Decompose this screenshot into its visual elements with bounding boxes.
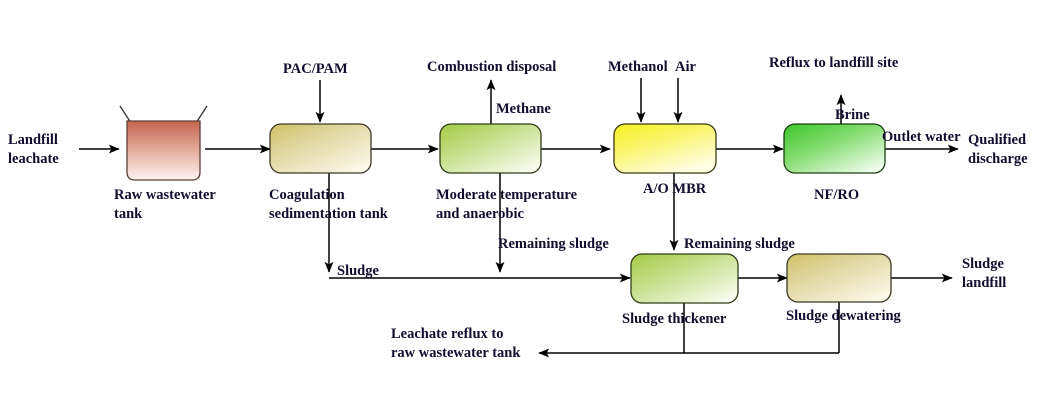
label-reflux-to-landfill-site: Reflux to landfill site	[769, 54, 898, 73]
label-combustion-disposal: Combustion disposal	[427, 58, 556, 77]
label-raw-wastewater-tank-line2: tank	[114, 205, 142, 224]
label-qualified-discharge-line1: Qualified	[968, 131, 1026, 150]
label-raw-wastewater-tank-line1: Raw wastewater	[114, 186, 216, 205]
vertical-stream-connectors	[320, 78, 841, 125]
label-leachate-reflux-line2: raw wastewater tank	[391, 344, 520, 363]
label-landfill-leachate-line1: Landfill	[8, 131, 58, 150]
label-sludge: Sludge	[337, 262, 379, 281]
label-air: Air	[675, 58, 696, 77]
label-remaining-sludge-aombr: Remaining sludge	[684, 235, 795, 254]
process-flow-diagram: Landfill leachate Raw wastewater tank PA…	[0, 0, 1048, 417]
label-anaerobic-line1: Moderate temperature	[436, 186, 577, 205]
label-qualified-discharge-line2: discharge	[968, 150, 1028, 169]
label-sludge-thickener: Sludge thickener	[622, 310, 726, 329]
label-coagulation-line1: Coagulation	[269, 186, 345, 205]
label-landfill-leachate-line2: leachate	[8, 150, 59, 169]
label-nf-ro: NF/RO	[814, 186, 859, 205]
label-methanol: Methanol	[608, 58, 668, 77]
label-pac-pam: PAC/PAM	[283, 60, 348, 79]
label-brine: Brine	[835, 106, 870, 125]
ao-mbr-box[interactable]	[614, 124, 716, 173]
coagulation-sedimentation-tank-box[interactable]	[270, 124, 371, 173]
sludge-dewatering-box[interactable]	[787, 254, 891, 302]
raw-wastewater-tank-shape[interactable]	[120, 106, 207, 180]
label-coagulation-line2: sedimentation tank	[269, 205, 388, 224]
moderate-temperature-anaerobic-box[interactable]	[440, 124, 541, 173]
label-sludge-landfill-line1: Sludge	[962, 255, 1004, 274]
label-outlet-water: Outlet water	[882, 128, 961, 147]
nf-ro-box[interactable]	[784, 124, 885, 173]
label-ao-mbr: A/O MBR	[643, 180, 706, 199]
label-anaerobic-line2: and anaerobic	[436, 205, 524, 224]
label-remaining-sludge-anaerobic: Remaining sludge	[498, 235, 609, 254]
label-methane: Methane	[496, 100, 551, 119]
label-leachate-reflux-line1: Leachate reflux to	[391, 325, 503, 344]
label-sludge-dewatering: Sludge dewatering	[786, 307, 901, 326]
label-sludge-landfill-line2: landfill	[962, 274, 1006, 293]
sludge-thickener-box[interactable]	[631, 254, 738, 303]
tank-body	[127, 121, 200, 180]
